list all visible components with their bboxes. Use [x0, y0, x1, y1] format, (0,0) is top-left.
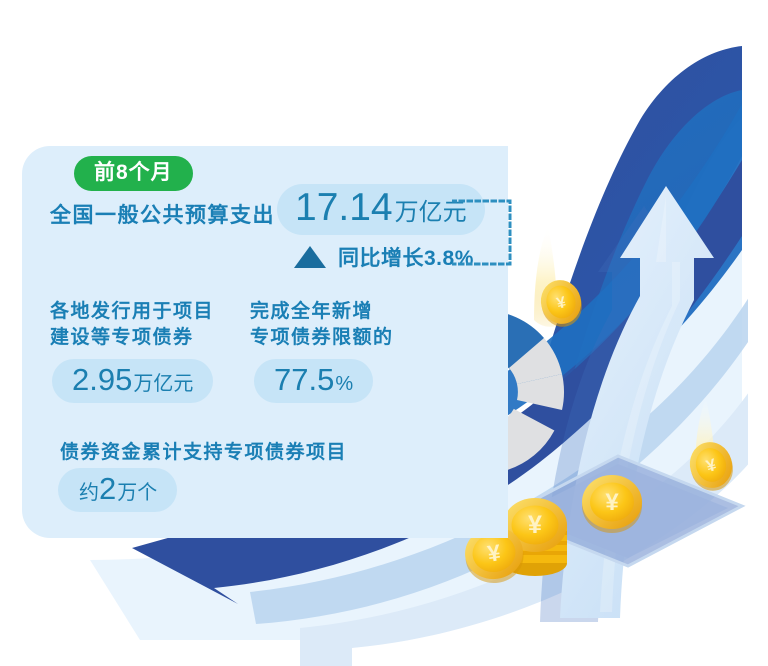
special-bond-issuance-value: 2.95	[72, 362, 132, 398]
quota-completion-value: 77.5	[274, 362, 334, 398]
infographic-canvas: ¥ ¥ ¥	[0, 0, 768, 666]
special-bond-issuance-label-line1: 各地发行用于项目	[50, 299, 214, 325]
public-expenditure-value: 17.14	[295, 188, 393, 229]
supported-projects-prefix: 约	[79, 476, 99, 505]
stats-card: 前8个月 全国一般公共预算支出 17.14 万亿元 同比增长3.8% 各地发行用…	[22, 146, 508, 538]
svg-text:¥: ¥	[605, 489, 619, 516]
special-bond-issuance-label: 各地发行用于项目 建设等专项债券	[50, 299, 214, 350]
quota-completion-value-pill: 77.5 %	[254, 359, 373, 403]
quota-completion-label-line1: 完成全年新增	[250, 299, 394, 325]
growth-indicator: 同比增长3.8%	[294, 242, 474, 272]
quota-completion-unit: %	[335, 373, 353, 396]
coin-yen-icon: ¥	[582, 475, 642, 533]
special-bond-issuance-unit: 万亿元	[133, 367, 193, 396]
supported-projects-value: 2	[99, 471, 116, 507]
supported-projects-unit: 万个	[117, 476, 157, 505]
period-badge: 前8个月	[74, 156, 193, 191]
public-expenditure-label: 全国一般公共预算支出	[50, 199, 275, 229]
supported-projects-label: 债券资金累计支持专项债券项目	[60, 437, 347, 464]
triangle-up-icon	[294, 246, 326, 268]
special-bond-issuance-label-line2: 建设等专项债券	[50, 325, 214, 351]
dotted-bracket-shape	[452, 198, 516, 270]
special-bond-issuance-value-pill: 2.95 万亿元	[52, 359, 213, 403]
quota-completion-label: 完成全年新增 专项债券限额的	[250, 299, 394, 350]
quota-completion-label-line2: 专项债券限额的	[250, 325, 394, 351]
supported-projects-value-pill: 约 2 万个	[58, 468, 177, 512]
svg-text:¥: ¥	[528, 511, 542, 539]
